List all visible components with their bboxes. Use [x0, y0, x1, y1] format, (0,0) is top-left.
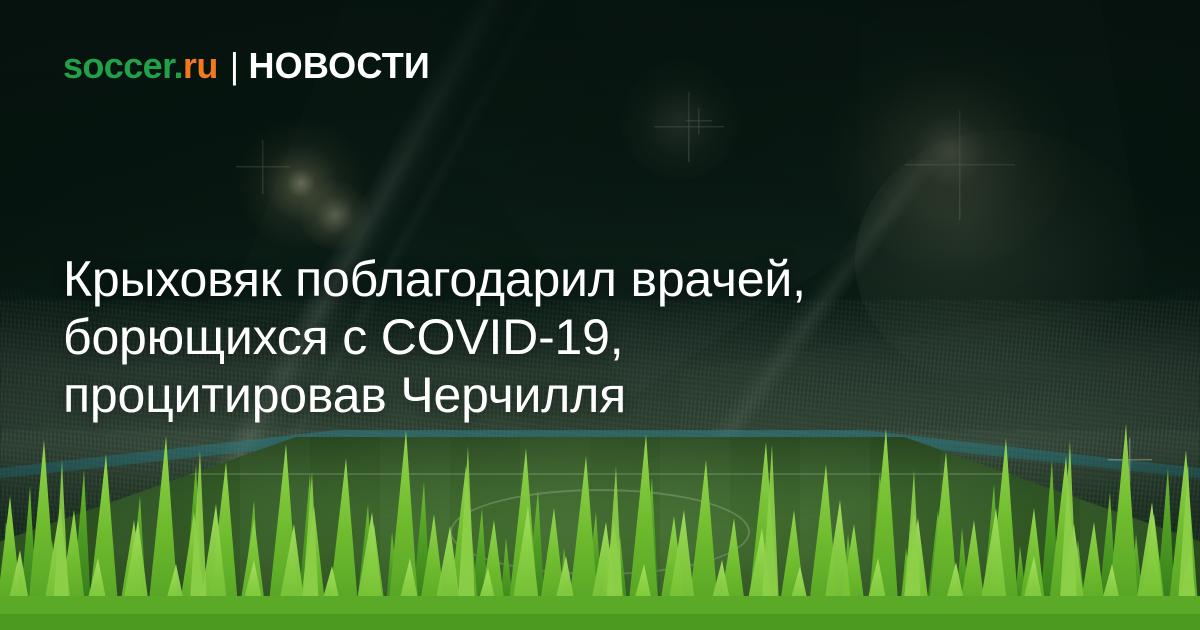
share-card: soccer.ru|НОВОСТИ Крыховяк поблагодарил … [0, 0, 1200, 630]
headline-line-3: процитировав Черчилля [63, 366, 1073, 424]
site-logo[interactable]: soccer.ru|НОВОСТИ [63, 48, 430, 84]
logo-text-soccer: soccer. [63, 45, 183, 86]
foreground-grass [0, 400, 1200, 630]
page-title: Крыховяк поблагодарил врачей, борющихся … [63, 250, 1073, 424]
headline-line-1: Крыховяк поблагодарил врачей, [63, 250, 1073, 308]
logo-separator: | [218, 45, 249, 86]
headline-line-2: борющихся с COVID-19, [63, 308, 1073, 366]
logo-text-ru: ru [183, 45, 218, 86]
section-label-news: НОВОСТИ [248, 45, 429, 86]
